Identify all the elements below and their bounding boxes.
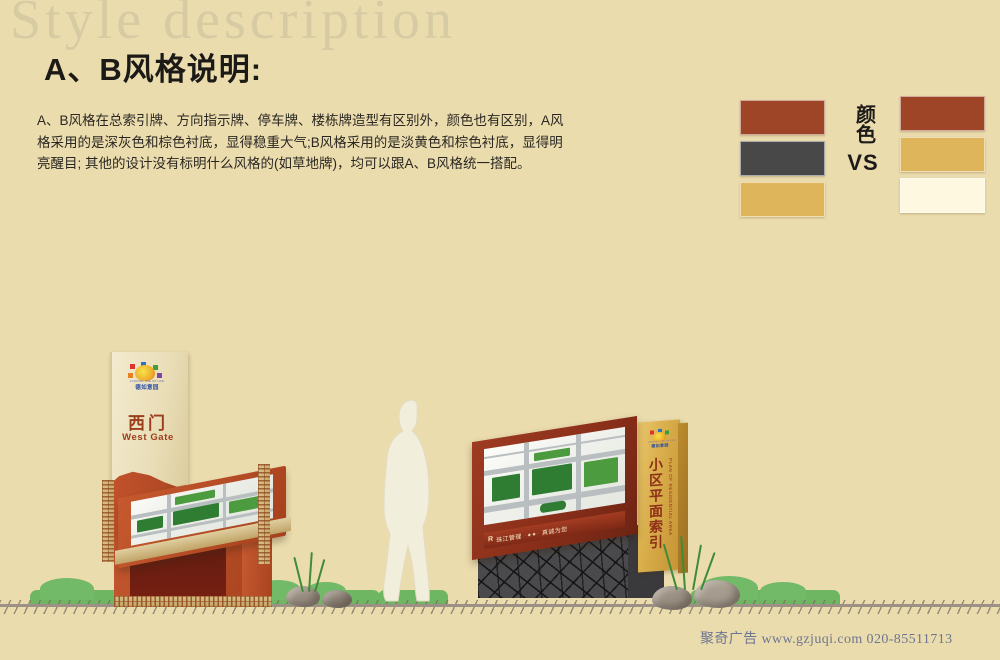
footer-phone: 020-85511713 [867, 632, 953, 647]
bush-5 [760, 582, 806, 600]
swatch-b-brown [900, 96, 985, 131]
style-a-swatch-column [740, 100, 825, 223]
map-road [576, 434, 581, 511]
right-sign-logo: LOOKING ONE OF LIFE 德如意园 [648, 429, 672, 448]
greek-key-pattern [258, 464, 270, 564]
map-road [524, 442, 529, 519]
poster-canvas: Style description A、B风格说明: A、B风格在总索引牌、方向… [0, 0, 1000, 660]
left-sign-title-cn: 西门 [110, 409, 186, 434]
brand-mark-icon: R [488, 536, 493, 545]
greek-key-pattern [102, 480, 114, 562]
logo-brand-cn: 德如意园 [126, 383, 168, 391]
footer-company: 聚奇广告 [700, 632, 758, 647]
left-greek-key-column-right [258, 464, 270, 564]
bush-1 [40, 578, 94, 600]
left-sign-logo: LOOKING ONE OF LIFE 德如意园 [126, 364, 168, 390]
swatch-b-cream-ivory [900, 178, 985, 213]
color-comparison-block: 颜色 VS [740, 100, 985, 225]
person-silhouette [372, 398, 450, 606]
left-sign-west-gate[interactable]: LOOKING ONE OF LIFE 德如意园 西门 West Gate [90, 352, 340, 610]
logo-ray-red [130, 364, 135, 369]
right-sign-title-en: PLAN OF RESIDENTIAL AREA [663, 458, 673, 536]
logo-ray-purple [157, 373, 162, 378]
map-greenspace [492, 473, 520, 501]
footer-website: www.gzjuqi.com [762, 632, 863, 647]
swatch-a-gold-tan [740, 182, 825, 217]
logo-ray-orange [128, 373, 133, 378]
description-text: A、B风格在总索引牌、方向指示牌、停车牌、楼栋牌造型有区别外，颜色也有区别，A风… [37, 110, 567, 175]
rock-right-a [652, 586, 692, 610]
greek-key-pattern [114, 596, 272, 607]
map-greenspace [584, 457, 618, 487]
description-paragraph: A、B风格在总索引牌、方向指示牌、停车牌、楼栋牌造型有区别外，颜色也有区别，A风… [37, 110, 567, 175]
left-greek-key-column [102, 480, 114, 562]
swatch-a-dark-gray [740, 141, 825, 176]
logo-brand-cn: 德如意园 [648, 442, 672, 450]
right-sign-gold-panel: LOOKING ONE OF LIFE 德如意园 小区平面索引 PLAN OF … [638, 420, 680, 573]
page-title: A、B风格说明: [44, 44, 262, 89]
color-label-cn: 颜色 [853, 104, 874, 144]
style-b-swatch-column [900, 100, 985, 219]
footer-credit: 聚奇广告 www.gzjuqi.com 020-85511713 [700, 628, 953, 648]
brand-name-cn: 珠江管理 [496, 531, 522, 544]
left-sign-title-en: West Gate [110, 432, 186, 443]
brand-dots: · ◆ ◆ · [525, 530, 539, 537]
brand-slogan-cn: 真诚为您 [542, 523, 568, 536]
rock-left-b [322, 590, 352, 608]
swatch-b-gold-tan [900, 137, 985, 172]
left-base-greek-trim [114, 596, 272, 607]
map-road [223, 483, 226, 528]
map-greenspace [532, 463, 572, 495]
vs-divider: 颜色 VS [832, 104, 894, 224]
map-road [167, 494, 171, 539]
vs-text: VS [847, 150, 878, 176]
right-map-graphic [484, 427, 625, 525]
logo-sun-icon [135, 365, 155, 381]
swatch-a-brown [740, 100, 825, 135]
